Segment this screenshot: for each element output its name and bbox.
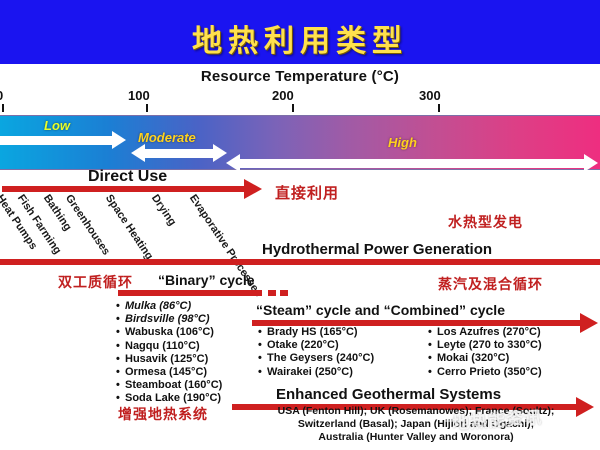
high-arrow-head-left [226,154,240,172]
steam-combined-right-list: •Los Azufres (270°C) •Leyte (270 to 330°… [428,326,542,379]
bullet-icon: • [116,300,125,313]
low-arrow-shaft [0,136,112,145]
moderate-arrow-shaft [145,149,213,158]
list-item-label: Los Azufres (270°C) [437,326,541,338]
list-item-label: Soda Lake (190°C) [125,392,221,404]
list-item: •Wairakei (250°C) [258,366,374,379]
bullet-icon: • [428,339,437,352]
list-item: •Otake (220°C) [258,339,374,352]
temperature-gradient-bar: Low Moderate High [0,115,600,170]
bullet-icon: • [258,366,267,379]
list-item-label: Birdsville (98°C) [125,313,209,325]
band-label-moderate: Moderate [138,130,196,145]
steam-combined-arrow-head [580,313,598,333]
binary-arrow-shaft [118,290,262,296]
list-item-label: Husavik (125°C) [125,353,208,365]
bullet-icon: • [116,326,125,339]
hydrothermal-cn-label: 水热型发电 [448,212,523,232]
bullet-icon: • [428,352,437,365]
list-item-label: Mokai (320°C) [437,352,509,364]
bullet-icon: • [116,379,125,392]
list-item: •Leyte (270 to 330°C) [428,339,542,352]
hydrothermal-arrow-shaft [0,259,600,265]
bullet-icon: • [428,326,437,339]
binary-arrow-dash-2 [280,290,288,296]
list-item-label: Wairakei (250°C) [267,366,353,378]
low-arrow-head [112,131,126,149]
list-item: •Birdsville (98°C) [116,313,222,326]
egs-footer-line: USA (Fenton Hill); UK (Rosemanowes); Fra… [232,405,600,418]
binary-item-list: •Mulka (86°C) •Birdsville (98°C) •Wabusk… [116,300,222,406]
direct-use-heading: Direct Use [88,168,167,186]
bullet-icon: • [428,366,437,379]
bullet-icon: • [258,339,267,352]
list-item: •Cerro Prieto (350°C) [428,366,542,379]
bullet-icon: • [116,340,125,353]
tick-mark-200 [292,104,294,112]
tick-label-200: 200 [272,88,294,103]
band-label-high: High [388,135,417,150]
list-item: •Mokai (320°C) [428,352,542,365]
steam-combined-heading: “Steam” cycle and “Combined” cycle [256,302,505,318]
list-item: •The Geysers (240°C) [258,352,374,365]
binary-cn-label: 双工质循环 [58,272,133,292]
list-item: •Husavik (125°C) [116,353,222,366]
slide-root: 地热利用类型 Resource Temperature (°C) 0 100 2… [0,0,600,450]
binary-heading: “Binary” cycle [158,272,255,288]
bullet-icon: • [116,366,125,379]
band-label-low: Low [44,118,70,133]
list-item-label: The Geysers (240°C) [267,352,374,364]
egs-heading: Enhanced Geothermal Systems [276,386,501,403]
moderate-arrow-head-right [213,144,227,162]
tick-label-100: 100 [128,88,150,103]
list-item: •Ormesa (145°C) [116,366,222,379]
list-item-label: Wabuska (106°C) [125,326,214,338]
tick-label-300: 300 [419,88,441,103]
egs-cn-label: 增强地热系统 [118,404,208,424]
direct-use-cn-label: 直接利用 [275,182,339,203]
direct-use-arrow-head [244,179,262,199]
steam-combined-cn-label: 蒸汽及混合循环 [438,274,543,294]
direct-use-arrow-shaft [2,186,244,192]
list-item-label: Steamboat (160°C) [125,379,222,391]
list-item: •Steamboat (160°C) [116,379,222,392]
list-item: •Mulka (86°C) [116,300,222,313]
egs-footer-line: Australia (Hunter Valley and Woronora) [232,431,600,444]
bullet-icon: • [116,313,125,326]
moderate-arrow-head-left [131,144,145,162]
steam-combined-left-list: •Brady HS (165°C) •Otake (220°C) •The Ge… [258,326,374,379]
title-banner: 地热利用类型 [0,0,600,66]
page-title: 地热利用类型 [0,16,600,60]
high-arrow-head-right [584,154,598,172]
temperature-scale: Resource Temperature (°C) 0 100 200 300 … [0,64,600,168]
scale-axis-title: Resource Temperature (°C) [0,68,600,85]
bullet-icon: • [116,353,125,366]
bullet-icon: • [258,352,267,365]
list-item-label: Mulka (86°C) [125,300,191,312]
list-item-label: Cerro Prieto (350°C) [437,366,542,378]
binary-arrow-dash-1 [268,290,276,296]
tick-mark-300 [438,104,440,112]
bullet-icon: • [258,326,267,339]
tick-label-0: 0 [0,88,3,103]
direct-use-label-text: Drying [149,193,178,228]
tick-mark-100 [146,104,148,112]
list-item: •Wabuska (106°C) [116,326,222,339]
list-item: •Nagqu (110°C) [116,340,222,353]
list-item-label: Nagqu (110°C) [125,340,200,352]
high-arrow-shaft [240,159,584,168]
list-item: •Brady HS (165°C) [258,326,374,339]
list-item: •Los Azufres (270°C) [428,326,542,339]
list-item-label: Otake (220°C) [267,339,339,351]
list-item-label: Brady HS (165°C) [267,326,358,338]
egs-footer-line: Switzerland (Basal); Japan (Hijiori and … [232,418,600,431]
tick-mark-0 [2,104,4,112]
egs-footer: USA (Fenton Hill); UK (Rosemanowes); Fra… [232,405,600,444]
direct-use-label-drying: Drying [149,193,178,228]
list-item-label: Ormesa (145°C) [125,366,207,378]
list-item-label: Leyte (270 to 330°C) [437,339,542,351]
hydrothermal-heading: Hydrothermal Power Generation [262,241,492,258]
